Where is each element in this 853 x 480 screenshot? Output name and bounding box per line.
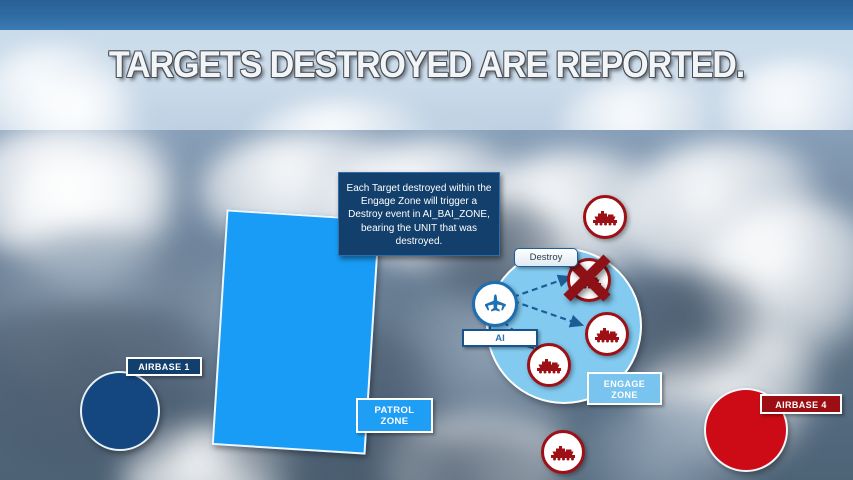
target-marker-east[interactable] [585,312,629,356]
slide: TARGETS DESTROYED ARE REPORTED. PATROL Z… [0,0,853,480]
ai-aircraft-marker[interactable] [472,281,518,327]
ai-unit-label: AI [462,329,538,347]
callout-textbox: Each Target destroyed within the Engage … [338,172,500,256]
target-marker-south-inner[interactable] [527,343,571,387]
tank-icon [592,209,618,226]
target-marker-south-outer[interactable] [541,430,585,474]
patrol-zone-label-line1: PATROL [358,405,431,416]
engage-zone-label: ENGAGE ZONE [587,372,662,405]
tank-icon [550,444,576,461]
tank-icon [576,272,602,289]
fighter-jet-icon [482,293,509,315]
patrol-zone-label-line2: ZONE [358,416,431,427]
engage-zone-label-line2: ZONE [589,390,660,401]
tank-icon [594,326,620,343]
engage-zone-label-line1: ENGAGE [589,379,660,390]
tank-icon [536,357,562,374]
target-marker-north[interactable] [583,195,627,239]
airbase-1-label: AIRBASE 1 [126,357,202,376]
destroy-event-label: Destroy [514,248,578,267]
airbase-4-label: AIRBASE 4 [760,394,842,414]
patrol-zone-label: PATROL ZONE [356,398,433,433]
